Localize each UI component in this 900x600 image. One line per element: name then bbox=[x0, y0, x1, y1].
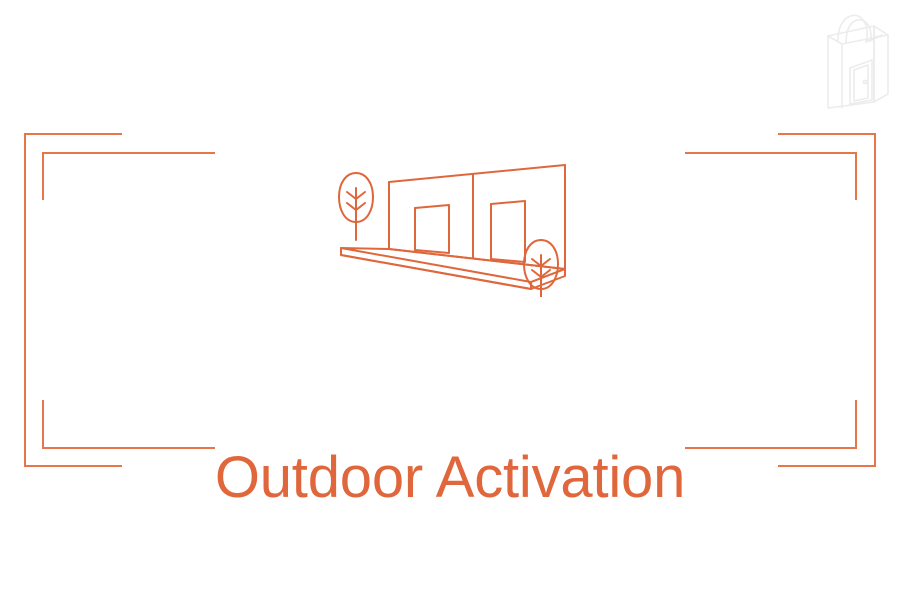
tree-left-icon bbox=[339, 173, 373, 240]
door-right bbox=[491, 201, 525, 262]
door-left bbox=[415, 205, 449, 253]
storefront-facade-illustration bbox=[325, 152, 575, 297]
bracket-top-right-inner bbox=[685, 153, 856, 200]
slide-canvas: Outdoor Activation & Pop-up bbox=[0, 0, 900, 600]
page-title-line-1: Outdoor Activation bbox=[0, 443, 900, 513]
bracket-top-left-inner bbox=[43, 153, 215, 200]
sidewalk-platform bbox=[341, 248, 565, 289]
page-title: Outdoor Activation & Pop-up bbox=[0, 303, 900, 600]
